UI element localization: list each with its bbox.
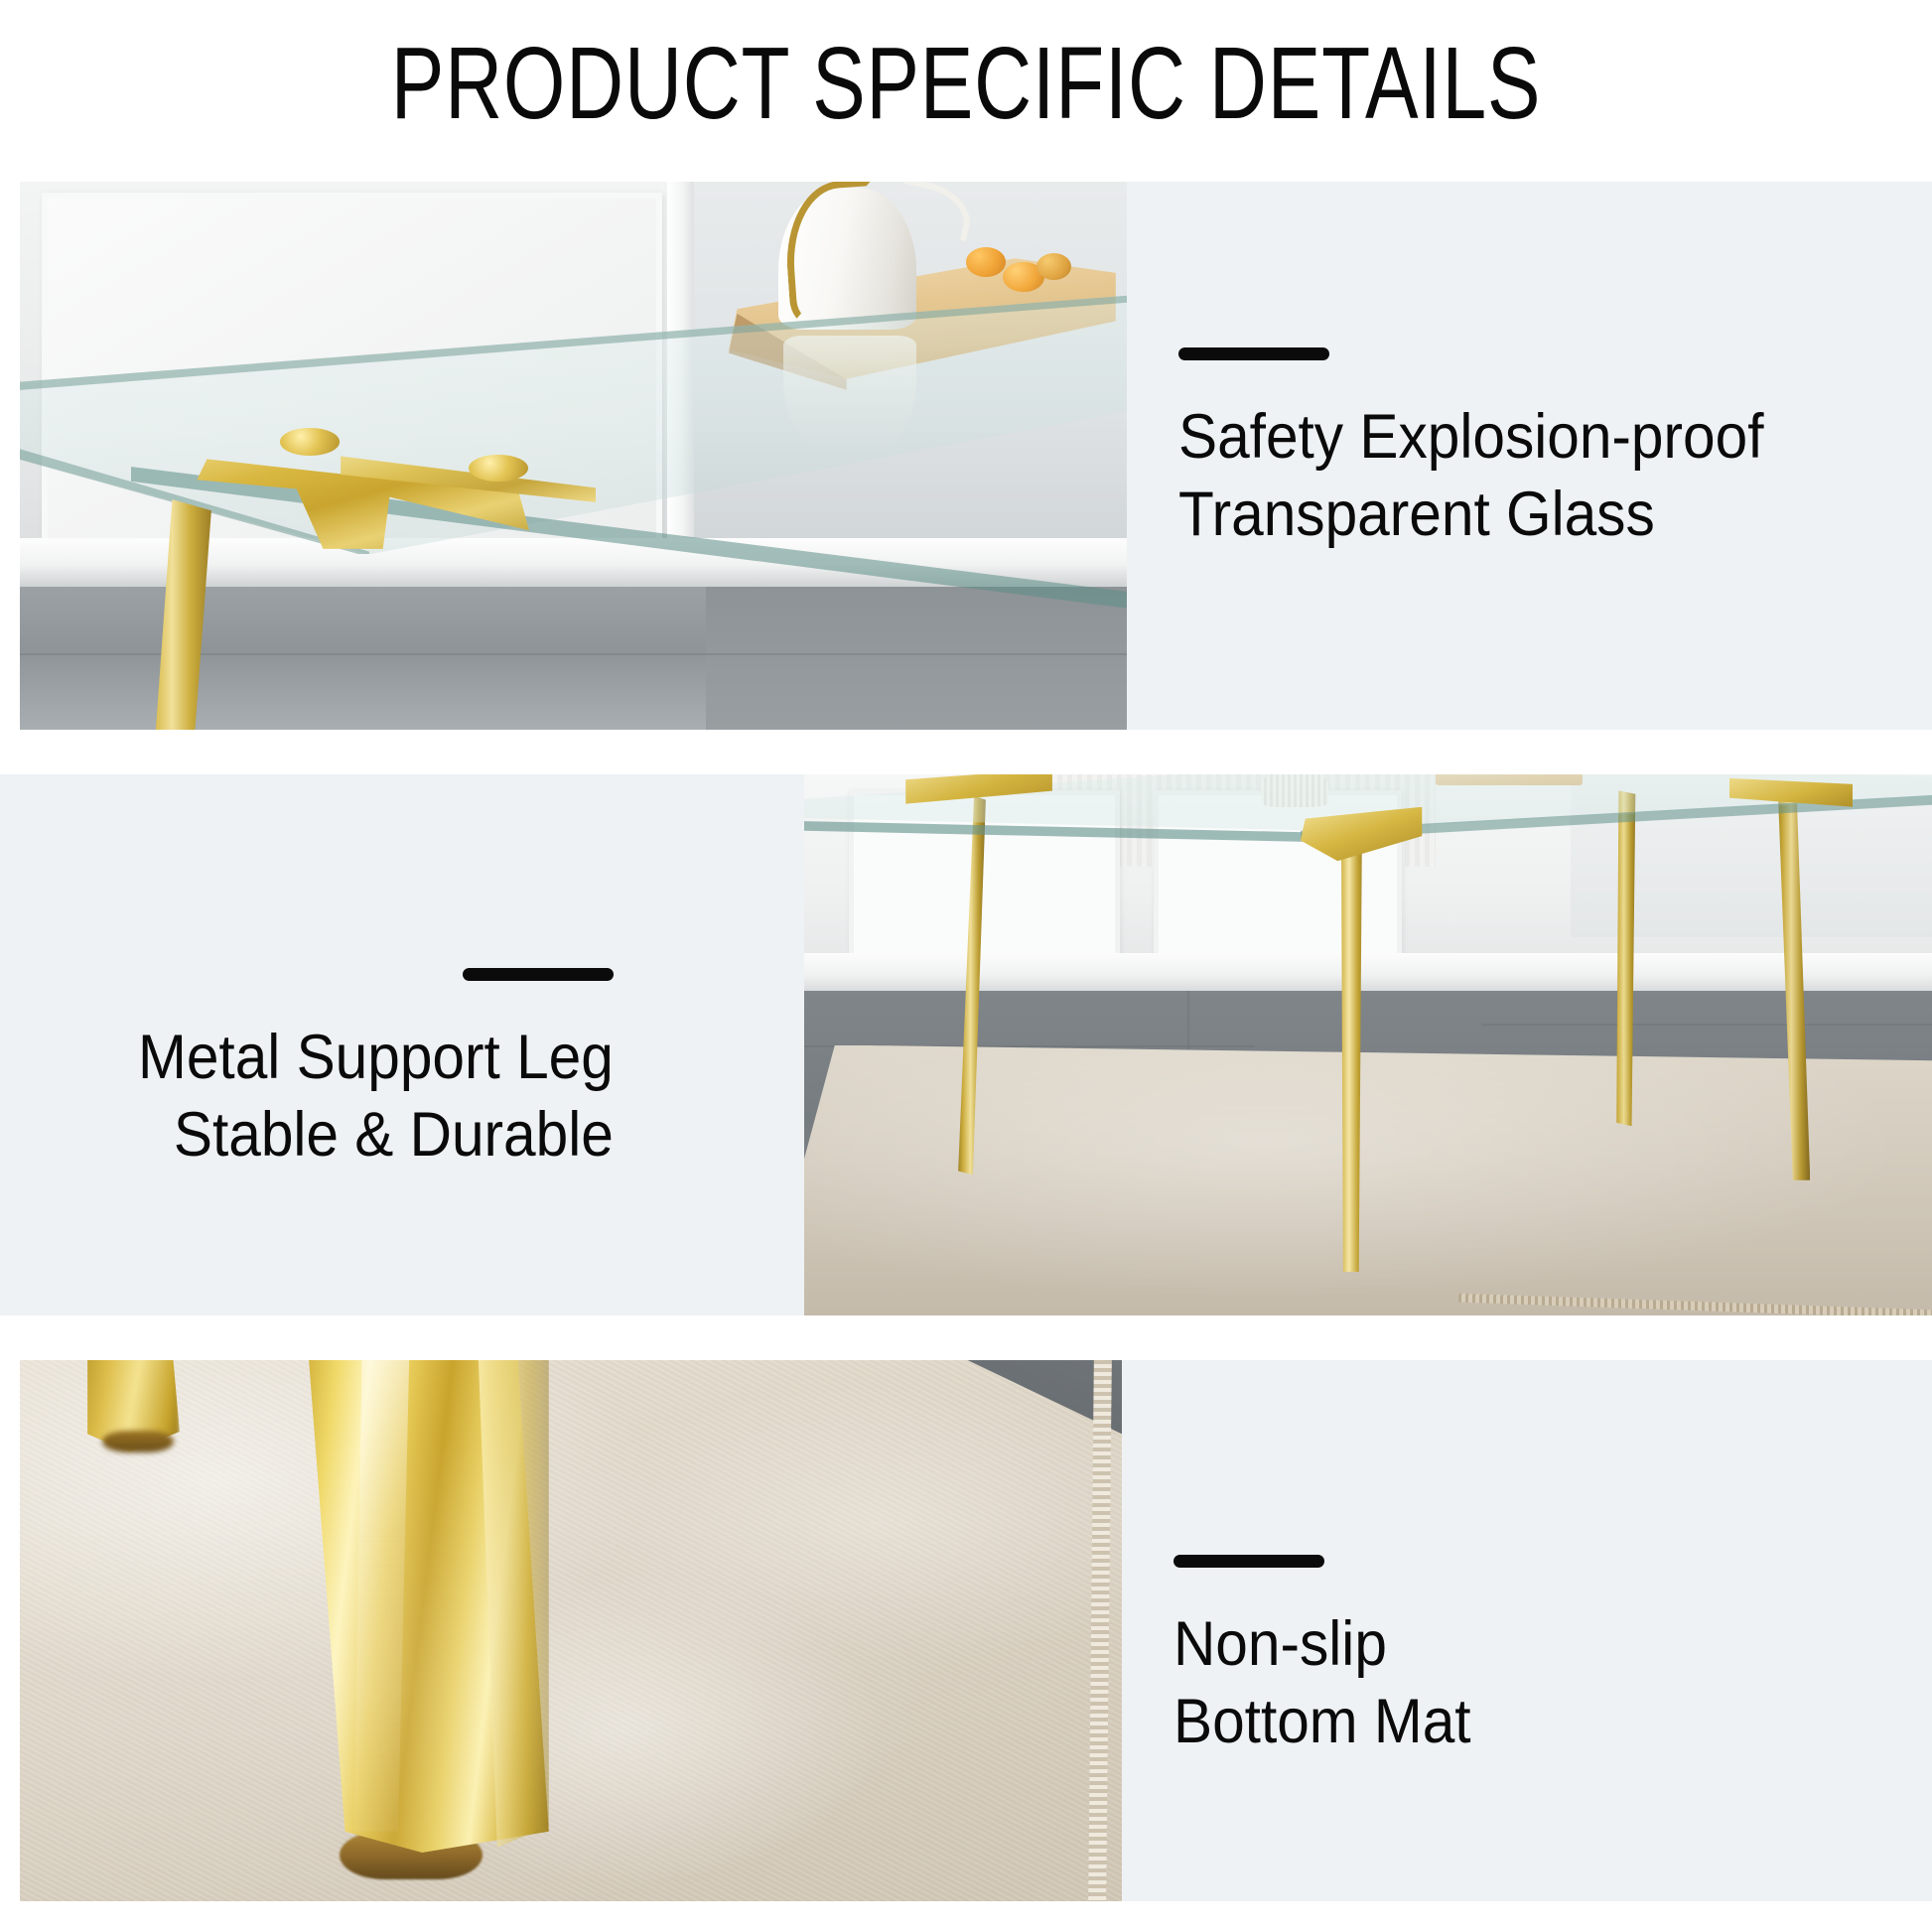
caption-line-1: Safety Explosion-proof — [1178, 398, 1763, 476]
accent-dash-icon — [1173, 1555, 1324, 1568]
caption-line-2: Stable & Durable — [138, 1096, 614, 1173]
caption-line-2: Transparent Glass — [1178, 476, 1763, 553]
caption-safety-glass: Safety Explosion-proof Transparent Glass — [1178, 347, 1808, 553]
bracket-stud — [280, 428, 340, 456]
caption-line-1: Non-slip — [1173, 1605, 1471, 1683]
accent-dash-icon — [463, 968, 614, 981]
photo-safety-glass — [20, 182, 1127, 730]
floor-seam — [1481, 1024, 1932, 1026]
caption-non-slip-mat: Non-slip Bottom Mat — [1173, 1555, 1493, 1760]
photo-metal-leg — [804, 774, 1932, 1315]
photo-non-slip-mat — [20, 1360, 1122, 1901]
feature-row-metal-leg: Metal Support Leg Stable & Durable — [0, 774, 1932, 1315]
carpet-texture — [20, 1360, 1122, 1901]
caption-line-1: Metal Support Leg — [138, 1019, 614, 1096]
caption-panel-non-slip-mat: Non-slip Bottom Mat — [1122, 1360, 1932, 1901]
feature-row-non-slip-mat: Non-slip Bottom Mat — [20, 1360, 1932, 1901]
caption-panel-safety-glass: Safety Explosion-proof Transparent Glass — [1127, 182, 1932, 730]
non-slip-foot-pad — [102, 1431, 174, 1452]
caption-metal-leg: Metal Support Leg Stable & Durable — [102, 968, 614, 1173]
floor-tile — [706, 587, 1127, 730]
accent-dash-icon — [1178, 347, 1329, 360]
caption-line-2: Bottom Mat — [1173, 1683, 1471, 1760]
caption-panel-metal-leg: Metal Support Leg Stable & Durable — [0, 774, 804, 1315]
page-title: PRODUCT SPECIFIC DETAILS — [212, 28, 1720, 139]
feature-row-safety-glass: Safety Explosion-proof Transparent Glass — [20, 182, 1932, 730]
